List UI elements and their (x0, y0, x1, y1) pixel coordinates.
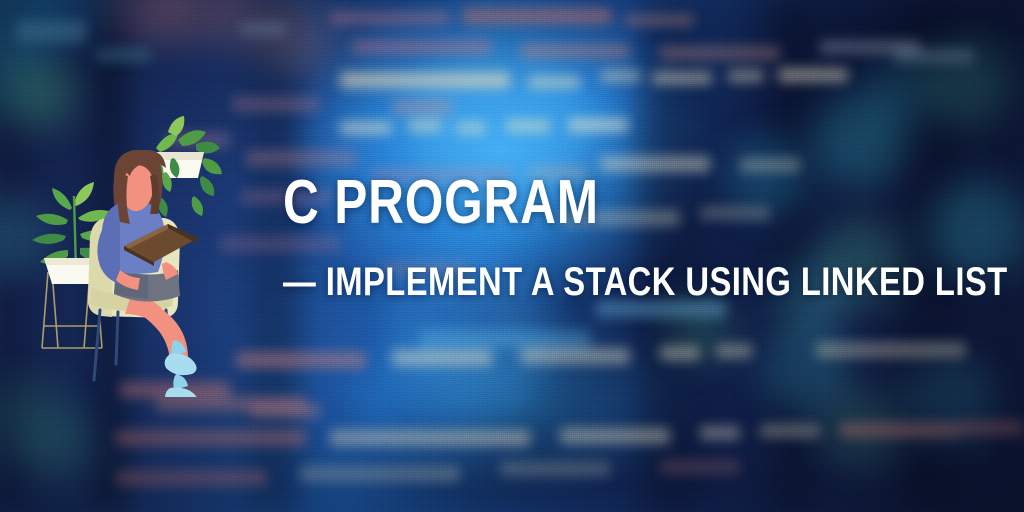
page-title: C PROGRAM (283, 172, 811, 234)
woman-reading-illustration (18, 112, 233, 397)
headline-block: C PROGRAM — IMPLEMENT A STACK USING LINK… (283, 172, 943, 302)
page-subtitle: — IMPLEMENT A STACK USING LINKED LIST (283, 262, 824, 302)
article-banner: C PROGRAM — IMPLEMENT A STACK USING LINK… (0, 0, 1024, 512)
